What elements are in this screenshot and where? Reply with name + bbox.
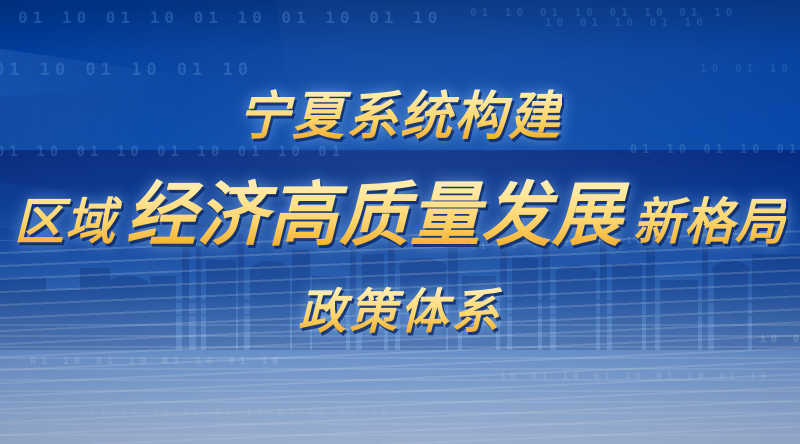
banner-title-line-3: 政策体系 bbox=[298, 272, 502, 342]
banner-title-line-1: 宁夏系统构建 bbox=[238, 74, 562, 149]
title-segment-region: 区域 bbox=[14, 182, 116, 254]
title-segment-emphasis: 经济高质量发展 bbox=[116, 159, 633, 260]
title-line-1-text: 宁夏系统构建 bbox=[238, 74, 562, 149]
title-block: 宁夏系统构建 区域 经济高质量发展 新格局 政策体系 bbox=[0, 0, 800, 444]
title-segment-pattern: 新格局 bbox=[633, 182, 786, 254]
policy-banner: 01 10 01 10 01 10 01 10 01 10 01 10 01 1… bbox=[0, 0, 800, 444]
title-line-3-text: 政策体系 bbox=[298, 272, 502, 342]
banner-title-line-2: 区域 经济高质量发展 新格局 bbox=[14, 159, 786, 260]
